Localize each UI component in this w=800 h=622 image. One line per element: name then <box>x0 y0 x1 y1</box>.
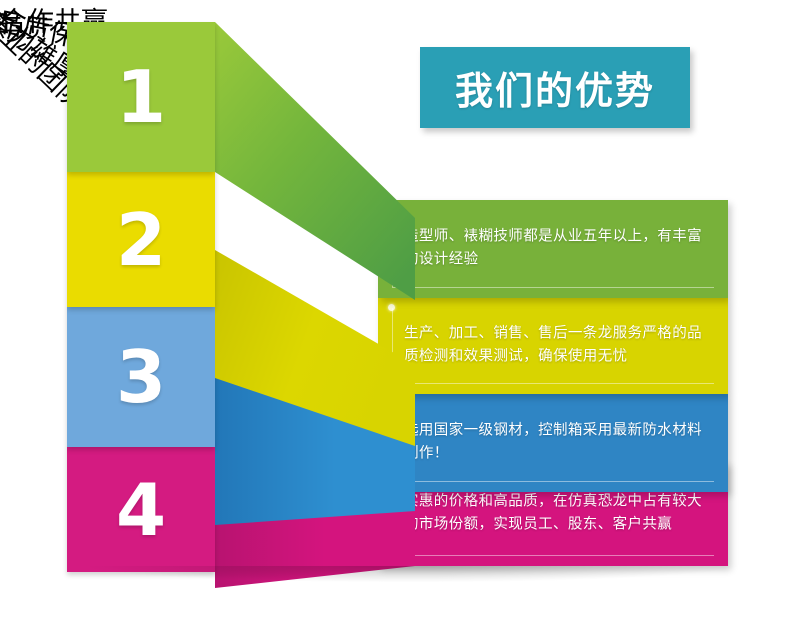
number-1: 1 <box>67 61 215 133</box>
advantage-row-1: 造型师、裱糊技师都是从业五年以上，有丰富的设计经验 专业的团队 1 <box>0 0 800 622</box>
drop-shadow <box>90 566 730 582</box>
text-panel-1: 造型师、裱糊技师都是从业五年以上，有丰富的设计经验 <box>378 200 728 298</box>
number-block-1: 1 <box>67 22 215 172</box>
infographic-canvas: 我们的优势 实惠的价格和高品质，在仿真恐龙中占有较大的市场份额，实现员工、股东、… <box>0 0 800 622</box>
panel-text-1: 造型师、裱糊技师都是从业五年以上，有丰富的设计经验 <box>404 226 710 273</box>
